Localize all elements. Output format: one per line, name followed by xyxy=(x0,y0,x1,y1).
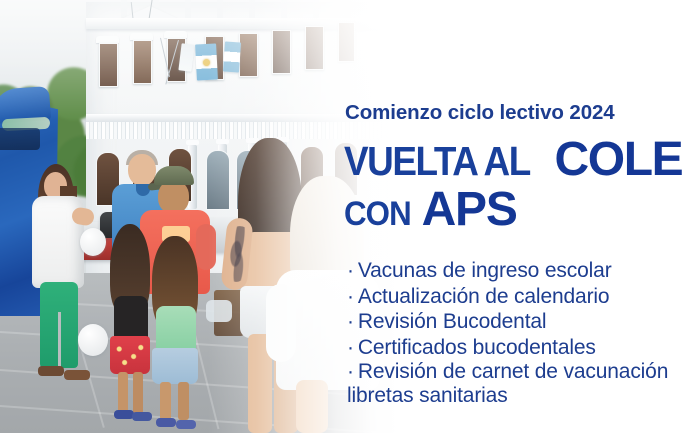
flip-flop xyxy=(114,410,134,419)
list-item-label: Actualización de calendario xyxy=(358,285,610,308)
building-cornice-lower xyxy=(86,114,386,122)
list-item: ·Revisión Bucodental xyxy=(347,309,697,335)
list-item: ·Actualización de calendario xyxy=(347,284,697,310)
bullet-icon: · xyxy=(347,259,354,282)
photo-background xyxy=(0,0,400,433)
leg-gap xyxy=(58,312,61,370)
arm xyxy=(266,284,296,362)
flip-flop xyxy=(132,412,152,421)
kicker-text: Comienzo ciclo lectivo 2024 xyxy=(345,101,615,125)
head xyxy=(128,154,156,186)
list-item-label: Certificados bucodentales xyxy=(358,336,596,359)
window-shutter xyxy=(272,30,291,74)
flip-flop xyxy=(176,420,196,429)
list-item-label: Revisión Bucodental xyxy=(358,310,547,333)
supply-bag xyxy=(206,300,232,322)
window-shutter xyxy=(239,33,258,77)
window-shutter xyxy=(99,43,118,87)
headline-line-2: CONAPS xyxy=(344,186,517,234)
tarp-shadow xyxy=(0,128,40,150)
headline-bold-2: APS xyxy=(422,186,517,234)
skirt-pattern xyxy=(112,340,148,370)
bullet-icon: · xyxy=(347,285,354,308)
window-head xyxy=(96,36,119,43)
arched-entrance xyxy=(206,150,230,210)
bullet-icon: · xyxy=(347,336,354,359)
leg xyxy=(296,380,328,433)
sun-of-may-icon xyxy=(203,58,210,65)
list-item: ·Certificados bucodentales xyxy=(347,335,697,361)
bullet-icon: · xyxy=(347,310,354,333)
window-head xyxy=(164,31,187,38)
bullet-icon: · xyxy=(347,360,354,383)
mint-tank-top xyxy=(156,306,196,354)
list-item-label: Vacunas de ingreso escolar xyxy=(358,259,612,282)
text-panel: Comienzo ciclo lectivo 2024 VUELTA ALCOL… xyxy=(345,0,700,433)
building-balcony-balustrade xyxy=(86,122,386,139)
denim-shorts xyxy=(152,348,198,384)
flip-flop xyxy=(156,418,176,427)
pavement-joint xyxy=(0,405,399,433)
list-item: ·Revisión de carnet de vacunación libret… xyxy=(347,360,697,408)
leg xyxy=(118,372,128,414)
sandal xyxy=(38,366,64,376)
leg xyxy=(160,382,171,420)
list-item: ·Vacunas de ingreso escolar xyxy=(347,258,697,284)
flag-argentina xyxy=(195,43,218,80)
list-item-label: Revisión de carnet de vacunación libreta… xyxy=(347,360,668,407)
sandal xyxy=(64,370,90,380)
window-shutter xyxy=(133,40,152,84)
white-balloon xyxy=(78,324,108,356)
window-shutter xyxy=(305,26,324,70)
window-head xyxy=(130,33,153,40)
arm xyxy=(196,224,216,270)
head xyxy=(158,180,189,214)
headline-line-1: VUELTA ALCOLE xyxy=(344,136,682,184)
leg xyxy=(178,382,189,420)
headline-bold-1: COLE xyxy=(555,136,683,184)
headline-light-1: VUELTA AL xyxy=(344,141,530,182)
flag-argentina-secondary xyxy=(223,41,241,72)
service-list: ·Vacunas de ingreso escolar ·Actualizaci… xyxy=(347,258,697,408)
white-balloon xyxy=(80,228,106,256)
headline-light-2: CON xyxy=(344,197,411,231)
campaign-banner: Comienzo ciclo lectivo 2024 VUELTA ALCOL… xyxy=(0,0,700,433)
baseball-cap xyxy=(154,166,194,185)
leg xyxy=(133,372,143,414)
